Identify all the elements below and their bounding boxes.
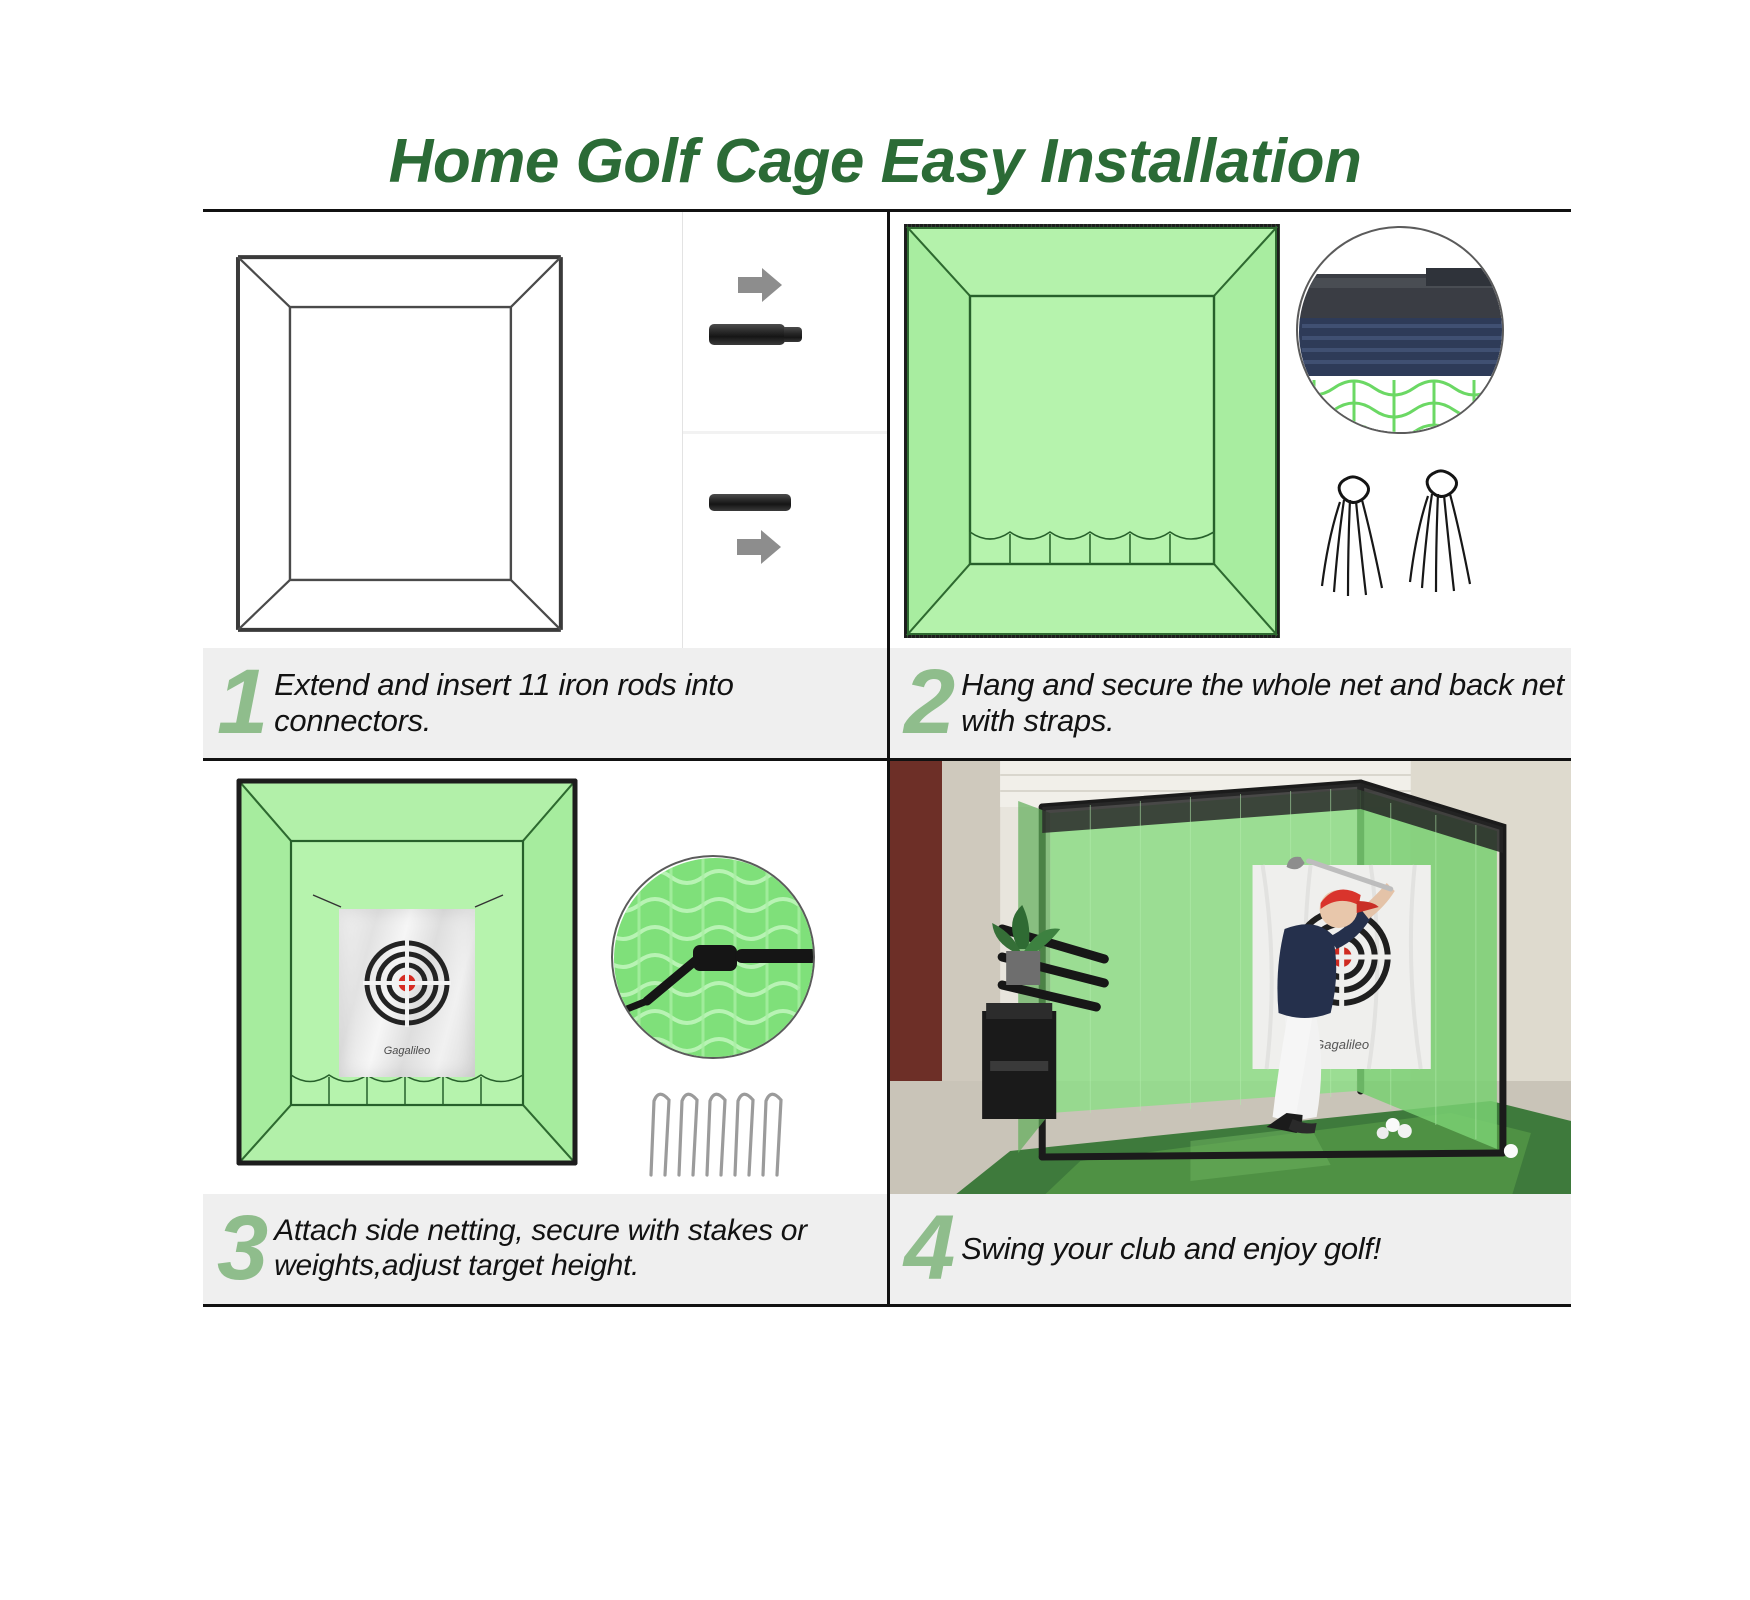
rope-tie-accessory xyxy=(1318,468,1404,618)
step-4-caption: 4 Swing your club and enjoy golf! xyxy=(890,1194,1571,1304)
step-1-number: 1 xyxy=(217,665,268,740)
step-4-artwork: Gagalileo xyxy=(890,761,1571,1199)
green-net-cage-with-target: Gagalileo xyxy=(217,775,597,1171)
step-2-number: 2 xyxy=(904,665,955,740)
step-panel-1: 1 Extend and insert 11 iron rods into co… xyxy=(203,212,887,758)
wireframe-cage-svg xyxy=(203,212,682,650)
step-4-text: Swing your club and enjoy golf! xyxy=(961,1231,1381,1267)
step-2-text: Hang and secure the whole net and back n… xyxy=(961,667,1571,739)
step-panel-3: Gagalileo xyxy=(203,758,887,1304)
parts-column xyxy=(682,212,887,650)
rope-tie-art xyxy=(1318,468,1404,618)
net-clip-closeup-magnifier xyxy=(611,855,815,1059)
green-net-cage xyxy=(904,224,1280,638)
photo-target-brand-label: Gagalileo xyxy=(1314,1037,1369,1052)
step-3-text: Attach side netting, secure with stakes … xyxy=(274,1214,887,1284)
ground-stakes-group xyxy=(643,1079,811,1179)
step-2-caption: 2 Hang and secure the whole net and back… xyxy=(890,648,1571,758)
step-2-artwork xyxy=(890,212,1571,650)
step-3-number: 3 xyxy=(217,1211,268,1286)
golfer-photo: Gagalileo xyxy=(890,761,1571,1199)
wireframe-cage-diagram xyxy=(203,212,682,650)
infographic-page: Home Golf Cage Easy Installation xyxy=(0,0,1750,1600)
cage-perspective-lines xyxy=(904,224,1280,638)
target-brand-label: Gagalileo xyxy=(384,1045,430,1057)
step-1-artwork xyxy=(203,212,887,650)
target-rings-svg: Gagalileo xyxy=(339,909,475,1077)
arrow-right-icon xyxy=(738,268,782,302)
step-panel-4: Gagalileo xyxy=(887,758,1571,1304)
strap-closeup-art xyxy=(1298,228,1504,434)
step-4-number: 4 xyxy=(904,1211,955,1286)
ground-stakes-art xyxy=(643,1079,811,1179)
step-3-artwork: Gagalileo xyxy=(203,761,887,1199)
step-panel-2: 2 Hang and secure the whole net and back… xyxy=(887,212,1571,758)
page-title: Home Golf Cage Easy Installation xyxy=(0,126,1750,197)
arrow-right-icon xyxy=(737,530,781,564)
rope-tie-accessory xyxy=(1404,462,1490,614)
tapered-rod-part xyxy=(709,324,785,345)
step-1-caption: 1 Extend and insert 11 iron rods into co… xyxy=(203,648,887,758)
step-1-text: Extend and insert 11 iron rods into conn… xyxy=(274,667,887,739)
rope-tie-art xyxy=(1404,462,1490,614)
golfer-photo-svg: Gagalileo xyxy=(890,761,1571,1199)
steps-grid: 1 Extend and insert 11 iron rods into co… xyxy=(203,209,1571,1307)
net-clip-closeup-art xyxy=(613,857,815,1059)
straight-rod-part xyxy=(709,494,791,511)
parts-divider xyxy=(683,431,887,434)
target-sheet: Gagalileo xyxy=(339,909,475,1077)
strap-closeup-magnifier xyxy=(1296,226,1504,434)
step-3-caption: 3 Attach side netting, secure with stake… xyxy=(203,1194,887,1304)
